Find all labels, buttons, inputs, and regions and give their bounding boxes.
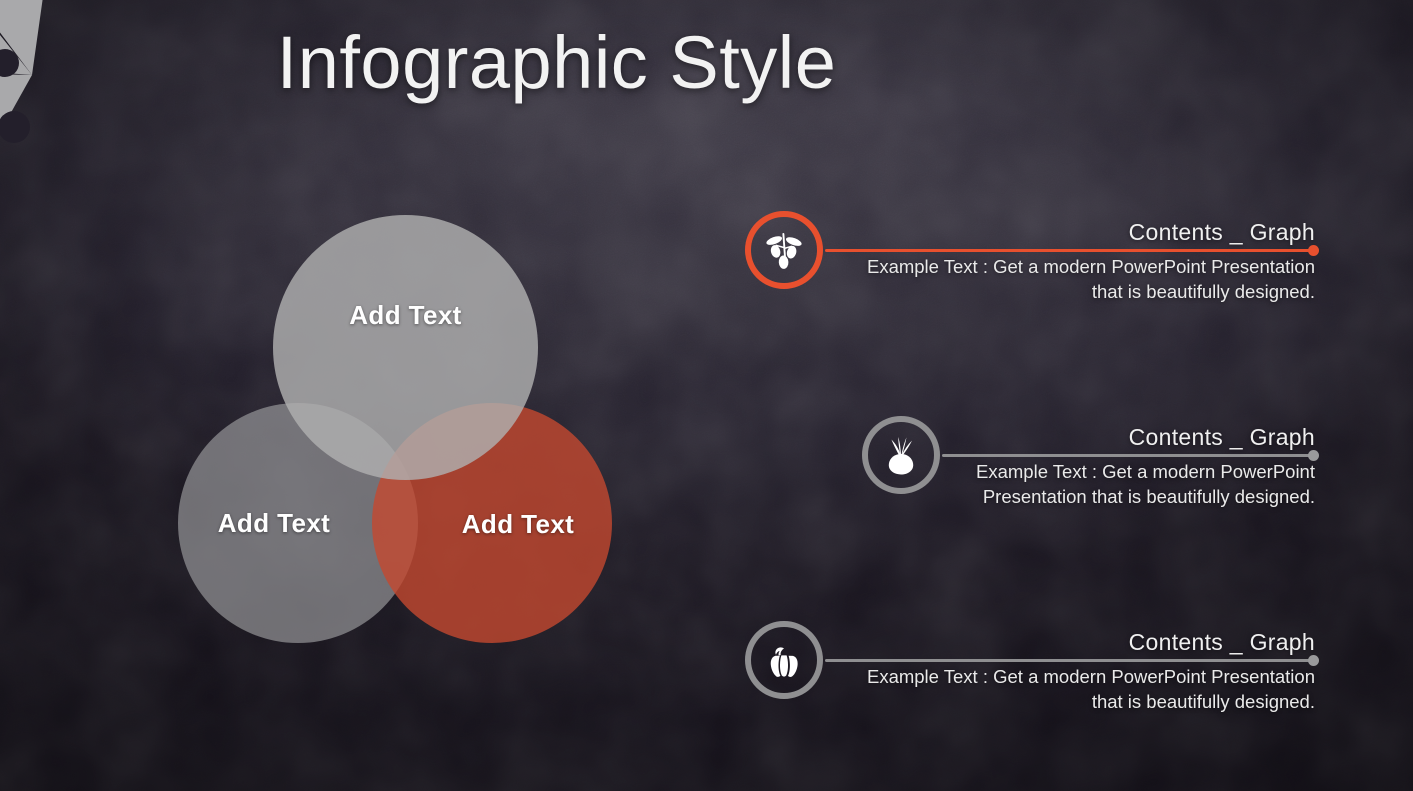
- row-3-connector-line: [825, 659, 1312, 662]
- olive-branch-icon: [761, 227, 807, 273]
- row-2-heading: Contents _ Graph: [1129, 424, 1315, 451]
- row-3-body-text: Example Text : Get a modern PowerPoint P…: [867, 664, 1315, 714]
- content-row-3: Contents _ Graph Example Text : Get a mo…: [745, 621, 1315, 741]
- page-title: Infographic Style: [0, 26, 1413, 100]
- content-row-1: Contents _ Graph Example Text : Get a mo…: [745, 211, 1315, 331]
- bell-pepper-icon: [761, 637, 807, 683]
- row-3-icon-badge[interactable]: [745, 621, 823, 699]
- venn-circle-top[interactable]: Add Text: [273, 215, 538, 480]
- row-3-heading: Contents _ Graph: [1129, 629, 1315, 656]
- row-2-icon-badge[interactable]: [862, 416, 940, 494]
- venn-label-left: Add Text: [218, 508, 331, 539]
- slide-canvas: Infographic Style Add Text Add Text Add …: [0, 0, 1413, 791]
- row-2-body-text: Example Text : Get a modern PowerPoint P…: [976, 459, 1315, 509]
- row-2-connector-line: [942, 454, 1312, 457]
- onion-bulb-icon: [878, 432, 924, 478]
- venn-label-top: Add Text: [349, 300, 462, 331]
- row-1-connector-line: [825, 249, 1312, 252]
- row-1-body-text: Example Text : Get a modern PowerPoint P…: [867, 254, 1315, 304]
- row-1-heading: Contents _ Graph: [1129, 219, 1315, 246]
- row-1-icon-badge[interactable]: [745, 211, 823, 289]
- venn-diagram: Add Text Add Text Add Text: [160, 215, 660, 685]
- content-row-2: Contents _ Graph Example Text : Get a mo…: [862, 416, 1315, 536]
- venn-label-right: Add Text: [462, 509, 575, 540]
